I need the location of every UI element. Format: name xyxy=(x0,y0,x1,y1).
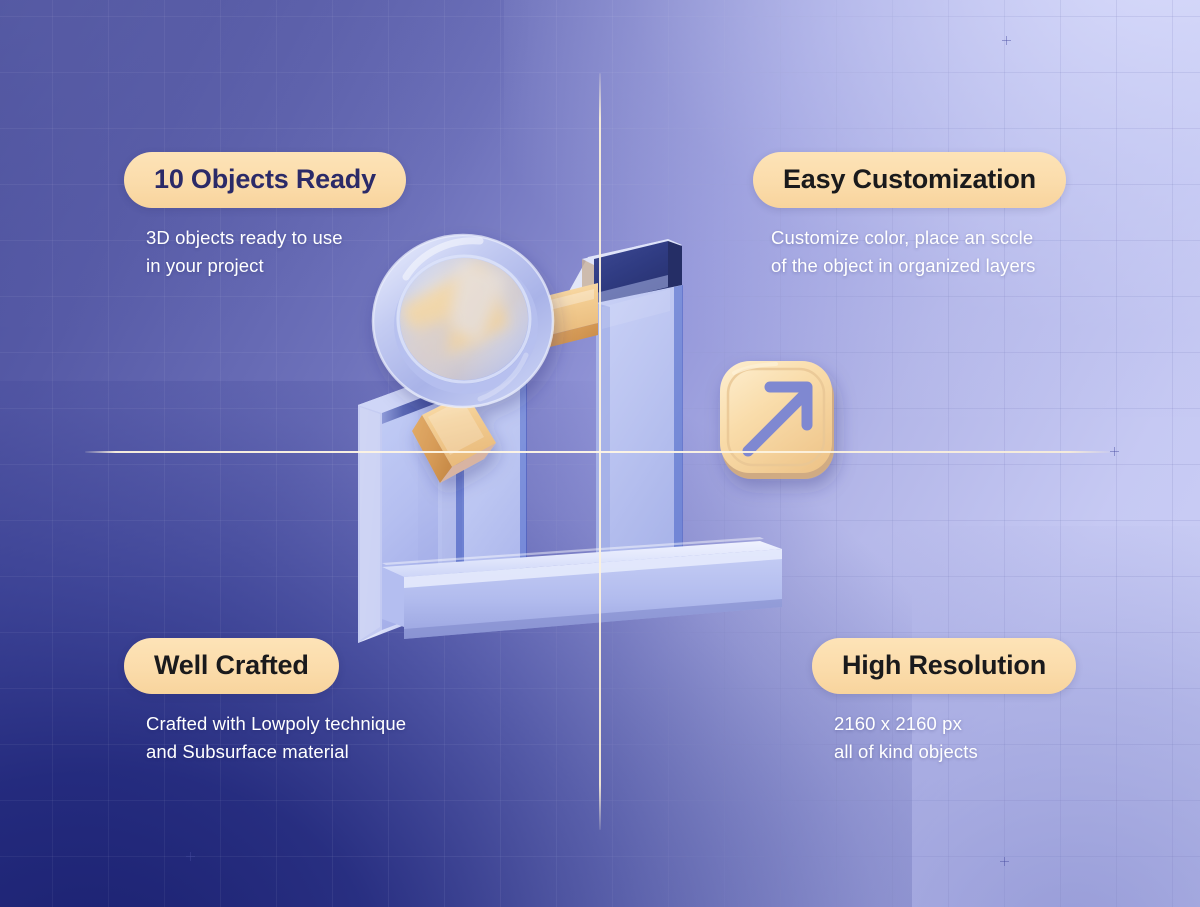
feature-title-easy-customization: Easy Customization xyxy=(753,152,1066,208)
feature-high-resolution: High Resolution 2160 x 2160 px all of ki… xyxy=(812,638,1076,767)
horizontal-guide-line xyxy=(85,451,1110,453)
feature-description-high-resolution: 2160 x 2160 px all of kind objects xyxy=(812,710,1076,766)
feature-title-high-resolution: High Resolution xyxy=(812,638,1076,694)
feature-easy-customization: Easy Customization Customize color, plac… xyxy=(753,152,1066,281)
feature-description-easy-customization: Customize color, place an sccle of the o… xyxy=(753,224,1066,280)
feature-description-objects-ready: 3D objects ready to use in your project xyxy=(124,224,406,280)
feature-title-well-crafted: Well Crafted xyxy=(124,638,339,694)
feature-well-crafted: Well Crafted Crafted with Lowpoly techni… xyxy=(124,638,406,767)
illustration-3d-bar-chart xyxy=(330,215,890,715)
arrow-badge xyxy=(720,361,834,479)
feature-description-well-crafted: Crafted with Lowpoly technique and Subsu… xyxy=(124,710,406,766)
feature-title-objects-ready: 10 Objects Ready xyxy=(124,152,406,208)
showcase-canvas: 10 Objects Ready 3D objects ready to use… xyxy=(0,0,1200,907)
feature-objects-ready: 10 Objects Ready 3D objects ready to use… xyxy=(124,152,406,281)
